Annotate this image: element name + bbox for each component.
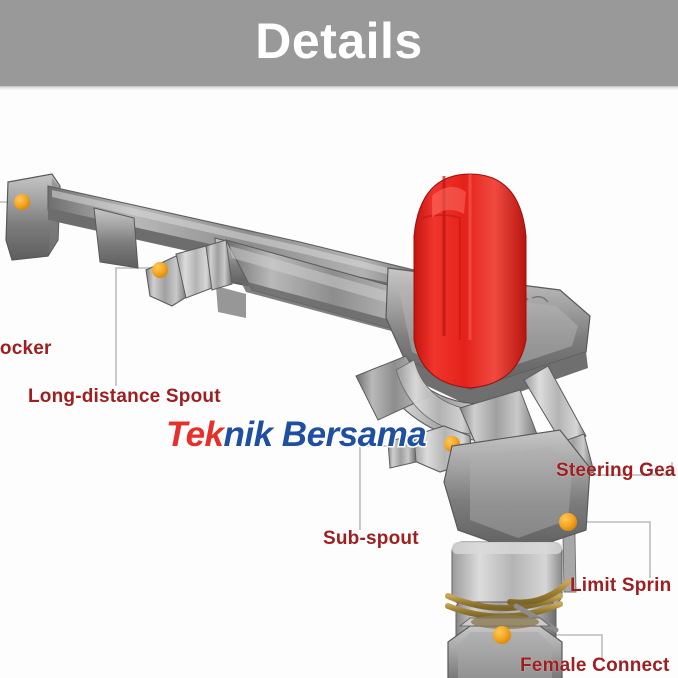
product-detail-page: Details <box>0 0 678 678</box>
watermark-red-part: Tek <box>166 415 224 454</box>
callout-label-steering-gear: Steering Gea <box>556 460 676 482</box>
callout-label-long-distance-spout: Long-distance Spout <box>28 386 221 408</box>
watermark-blue-part: nik Bersama <box>224 415 427 454</box>
callout-label-limit-spring: Limit Sprin <box>570 575 671 597</box>
callout-label-rocker: Rocker <box>0 338 52 360</box>
callout-label-female-connector: Female Connect <box>520 655 670 677</box>
marker-dot-rocker <box>14 194 30 210</box>
watermark: Teknik Bersama <box>166 417 426 452</box>
marker-dot-long-spout <box>152 262 168 278</box>
red-deflector-vane <box>414 174 526 388</box>
leader-limit-spring <box>578 522 650 578</box>
page-title: Details <box>255 16 422 66</box>
marker-dot-female-connector <box>493 626 511 644</box>
page-header: Details <box>0 0 678 86</box>
callout-label-sub-spout: Sub-spout <box>323 528 419 550</box>
marker-dot-limit-spring <box>559 513 577 531</box>
